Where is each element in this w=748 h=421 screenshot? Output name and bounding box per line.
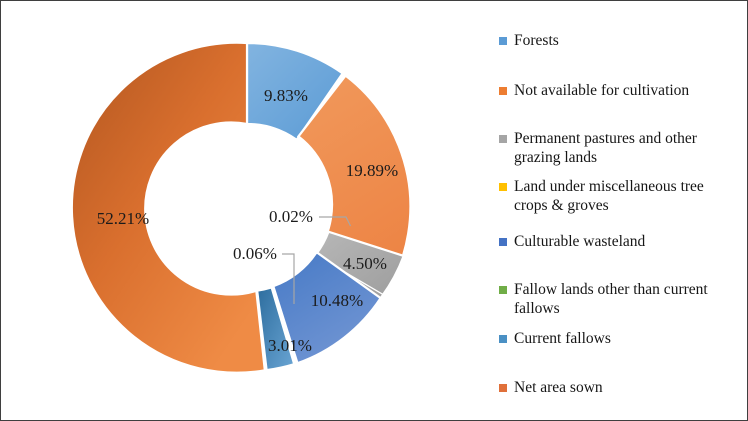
slice-label-current-fallows: 3.01%: [268, 336, 312, 355]
slice-net-area-sown[interactable]: [72, 43, 265, 373]
legend-swatch-net-area-sown: [499, 384, 507, 392]
legend-item-forests[interactable]: Forests: [499, 31, 739, 50]
legend-label-net-area-sown: Net area sown: [514, 378, 603, 397]
legend-label-misc-tree-crops: Land under miscellaneous tree crops & gr…: [514, 177, 704, 215]
chart-legend: Forests Not available for cultivation Pe…: [499, 19, 739, 409]
legend-item-permanent-pastures[interactable]: Permanent pastures and other grazing lan…: [499, 129, 739, 167]
legend-label-fallow-lands-other: Fallow lands other than current fallows: [514, 280, 708, 318]
legend-label-culturable-wasteland: Culturable wasteland: [514, 232, 645, 251]
legend-label-not-available-for-cultivation: Not available for cultivation: [514, 81, 689, 100]
legend-swatch-current-fallows: [499, 335, 507, 343]
legend-item-misc-tree-crops[interactable]: Land under miscellaneous tree crops & gr…: [499, 177, 739, 215]
legend-swatch-not-available-for-cultivation: [499, 87, 507, 95]
legend-item-current-fallows[interactable]: Current fallows: [499, 329, 739, 348]
legend-item-net-area-sown[interactable]: Net area sown: [499, 378, 739, 397]
legend-swatch-fallow-lands-other: [499, 286, 507, 294]
legend-label-forests: Forests: [514, 31, 559, 50]
legend-item-not-available-for-cultivation[interactable]: Not available for cultivation: [499, 81, 739, 100]
donut-chart: 9.83% 19.89% 4.50% 0.02% 10.48% 0.06% 3.…: [1, 1, 491, 420]
legend-swatch-forests: [499, 37, 507, 45]
legend-swatch-permanent-pastures: [499, 135, 507, 143]
slice-label-misc-tree-crops: 0.02%: [269, 207, 313, 226]
slice-label-net-area-sown: 52.21%: [97, 209, 149, 228]
slice-label-forests: 9.83%: [264, 86, 308, 105]
slice-label-not-available: 19.89%: [346, 161, 398, 180]
legend-item-culturable-wasteland[interactable]: Culturable wasteland: [499, 232, 739, 251]
legend-label-permanent-pastures: Permanent pastures and other grazing lan…: [514, 129, 697, 167]
slice-label-permanent-pastures: 4.50%: [343, 254, 387, 273]
legend-item-fallow-lands-other[interactable]: Fallow lands other than current fallows: [499, 280, 739, 318]
slice-label-fallow-lands-other: 0.06%: [233, 244, 277, 263]
donut-chart-svg: 9.83% 19.89% 4.50% 0.02% 10.48% 0.06% 3.…: [1, 1, 491, 420]
legend-label-current-fallows: Current fallows: [514, 329, 611, 348]
slice-label-culturable-wasteland: 10.48%: [311, 291, 363, 310]
legend-swatch-misc-tree-crops: [499, 183, 507, 191]
legend-swatch-culturable-wasteland: [499, 238, 507, 246]
chart-page: 9.83% 19.89% 4.50% 0.02% 10.48% 0.06% 3.…: [0, 0, 748, 421]
